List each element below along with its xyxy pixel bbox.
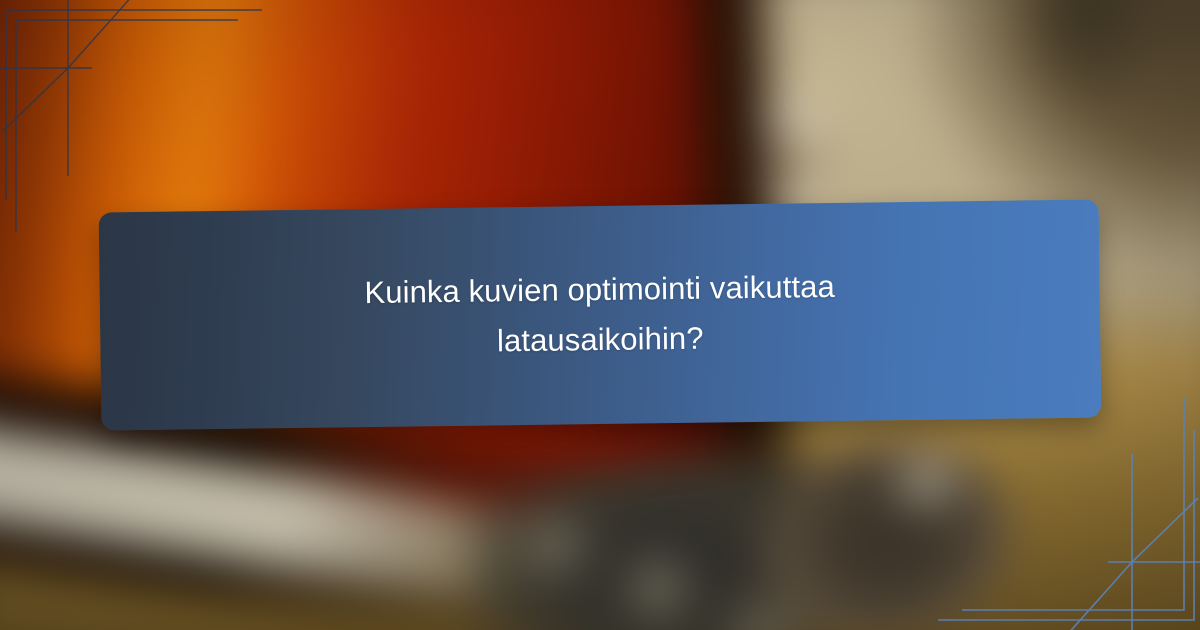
page-title: Kuinka kuvien optimointi vaikuttaa latau… [279,261,920,370]
title-card-wrapper: Kuinka kuvien optimointi vaikuttaa latau… [99,199,1102,430]
title-card: Kuinka kuvien optimointi vaikuttaa latau… [99,199,1102,430]
social-share-card-page: { "page": { "type": "social-share-card",… [0,0,1200,630]
